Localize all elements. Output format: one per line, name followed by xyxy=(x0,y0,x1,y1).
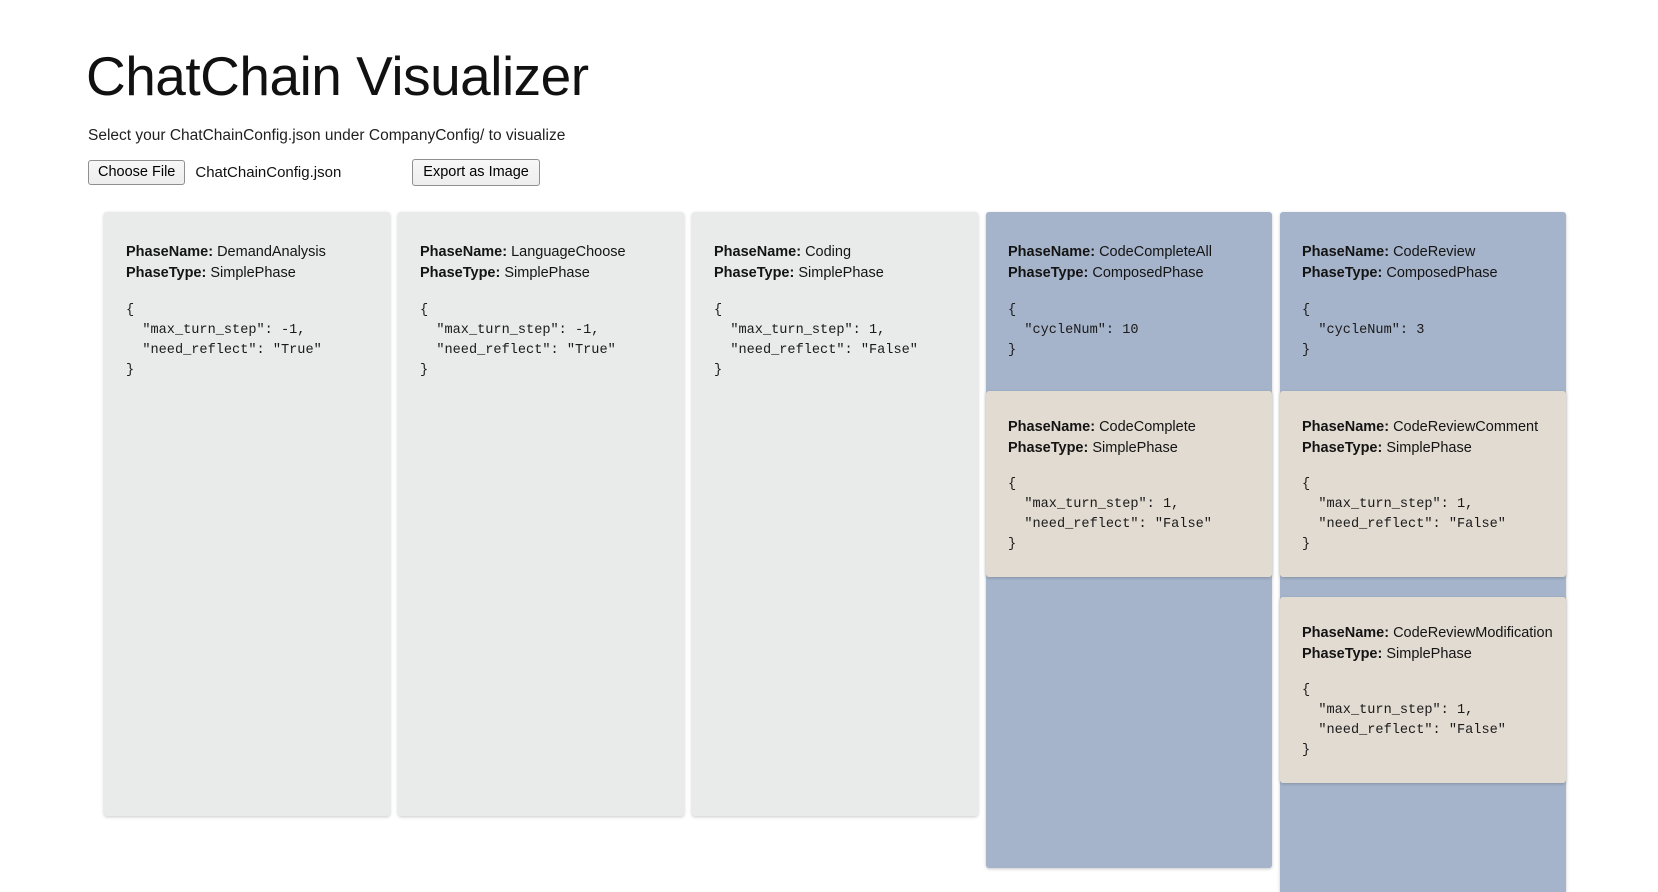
export-as-image-button[interactable]: Export as Image xyxy=(412,159,540,186)
controls-row: Choose File ChatChainConfig.json Export … xyxy=(88,159,1658,186)
phase-card-simple[interactable]: PhaseName: DemandAnalysis PhaseType: Sim… xyxy=(104,212,390,816)
phase-name-key: PhaseName: xyxy=(1302,625,1389,641)
page-subtitle: Select your ChatChainConfig.json under C… xyxy=(88,126,1658,146)
phase-meta: PhaseName: CodeReview PhaseType: Compose… xyxy=(1302,242,1544,283)
phase-name-key: PhaseName: xyxy=(1008,419,1095,435)
phase-name-row: PhaseName: CodeReviewModification xyxy=(1302,623,1544,644)
phase-meta: PhaseName: CodeCompleteAll PhaseType: Co… xyxy=(1008,242,1250,283)
phase-config-json: { "max_turn_step": -1, "need_reflect": "… xyxy=(420,301,662,381)
page-header: ChatChain Visualizer Select your ChatCha… xyxy=(0,0,1658,186)
phase-type-value: SimplePhase xyxy=(1386,646,1471,662)
nested-phase-card[interactable]: PhaseName: CodeReviewComment PhaseType: … xyxy=(1280,391,1566,577)
phase-card-simple[interactable]: PhaseName: LanguageChoose PhaseType: Sim… xyxy=(398,212,684,816)
phase-type-key: PhaseType: xyxy=(714,265,794,281)
choose-file-button[interactable]: Choose File xyxy=(88,160,185,185)
phase-config-json: { "max_turn_step": 1, "need_reflect": "F… xyxy=(1008,475,1250,555)
nested-phase-card[interactable]: PhaseName: CodeComplete PhaseType: Simpl… xyxy=(986,391,1272,577)
phase-type-row: PhaseType: SimplePhase xyxy=(1302,644,1544,665)
phase-type-row: PhaseType: ComposedPhase xyxy=(1008,263,1250,284)
phase-name-key: PhaseName: xyxy=(1008,244,1095,260)
chatchain-visualizer-page: ChatChain Visualizer Select your ChatCha… xyxy=(0,0,1658,892)
phase-name-key: PhaseName: xyxy=(1302,419,1389,435)
phase-type-row: PhaseType: SimplePhase xyxy=(1302,438,1544,459)
phase-type-value: ComposedPhase xyxy=(1386,265,1497,281)
selected-file-name: ChatChainConfig.json xyxy=(195,164,341,181)
phase-name-row: PhaseName: CodeReviewComment xyxy=(1302,417,1544,438)
phase-name-value: DemandAnalysis xyxy=(217,244,326,260)
phase-name-value: CodeCompleteAll xyxy=(1099,244,1212,260)
phase-type-key: PhaseType: xyxy=(1302,646,1382,662)
file-input[interactable]: Choose File ChatChainConfig.json xyxy=(88,160,341,185)
phase-name-row: PhaseName: Coding xyxy=(714,242,956,263)
phase-name-row: PhaseName: LanguageChoose xyxy=(420,242,662,263)
phase-type-row: PhaseType: SimplePhase xyxy=(420,263,662,284)
phase-config-json: { "cycleNum": 3 } xyxy=(1302,301,1544,361)
phase-type-key: PhaseType: xyxy=(420,265,500,281)
phase-meta: PhaseName: LanguageChoose PhaseType: Sim… xyxy=(420,242,662,283)
phase-type-row: PhaseType: SimplePhase xyxy=(126,263,368,284)
phase-card-composed[interactable]: PhaseName: CodeReview PhaseType: Compose… xyxy=(1280,212,1566,892)
phase-type-value: SimplePhase xyxy=(1386,440,1471,456)
phase-name-key: PhaseName: xyxy=(714,244,801,260)
phase-type-value: SimplePhase xyxy=(798,265,883,281)
phase-meta: PhaseName: CodeReviewModification PhaseT… xyxy=(1302,623,1544,664)
phase-meta: PhaseName: DemandAnalysis PhaseType: Sim… xyxy=(126,242,368,283)
phase-name-row: PhaseName: CodeComplete xyxy=(1008,417,1250,438)
phase-type-value: SimplePhase xyxy=(504,265,589,281)
phase-type-row: PhaseType: ComposedPhase xyxy=(1302,263,1544,284)
phase-card-composed[interactable]: PhaseName: CodeCompleteAll PhaseType: Co… xyxy=(986,212,1272,868)
phase-name-value: CodeComplete xyxy=(1099,419,1196,435)
phase-name-key: PhaseName: xyxy=(1302,244,1389,260)
phase-name-key: PhaseName: xyxy=(126,244,213,260)
phase-name-row: PhaseName: DemandAnalysis xyxy=(126,242,368,263)
phase-type-key: PhaseType: xyxy=(1302,440,1382,456)
phase-type-row: PhaseType: SimplePhase xyxy=(714,263,956,284)
phase-type-value: SimplePhase xyxy=(1092,440,1177,456)
phase-type-key: PhaseType: xyxy=(126,265,206,281)
phase-type-value: SimplePhase xyxy=(210,265,295,281)
phase-type-key: PhaseType: xyxy=(1008,265,1088,281)
phase-config-json: { "max_turn_step": -1, "need_reflect": "… xyxy=(126,301,368,381)
phase-card-simple[interactable]: PhaseName: Coding PhaseType: SimplePhase… xyxy=(692,212,978,816)
phase-type-key: PhaseType: xyxy=(1302,265,1382,281)
nested-phase-card[interactable]: PhaseName: CodeReviewModification PhaseT… xyxy=(1280,597,1566,783)
chat-chain-container: PhaseName: DemandAnalysis PhaseType: Sim… xyxy=(104,212,1566,892)
phase-name-row: PhaseName: CodeCompleteAll xyxy=(1008,242,1250,263)
phase-name-value: Coding xyxy=(805,244,851,260)
nested-phase-list: PhaseName: CodeComplete PhaseType: Simpl… xyxy=(1008,391,1250,577)
phase-meta: PhaseName: CodeReviewComment PhaseType: … xyxy=(1302,417,1544,458)
phase-config-json: { "cycleNum": 10 } xyxy=(1008,301,1250,361)
phase-name-value: CodeReview xyxy=(1393,244,1475,260)
phase-config-json: { "max_turn_step": 1, "need_reflect": "F… xyxy=(1302,681,1544,761)
phase-name-value: LanguageChoose xyxy=(511,244,626,260)
phase-meta: PhaseName: Coding PhaseType: SimplePhase xyxy=(714,242,956,283)
phase-config-json: { "max_turn_step": 1, "need_reflect": "F… xyxy=(1302,475,1544,555)
phase-name-key: PhaseName: xyxy=(420,244,507,260)
phase-name-value: CodeReviewModification xyxy=(1393,625,1553,641)
nested-phase-list: PhaseName: CodeReviewComment PhaseType: … xyxy=(1302,391,1544,783)
phase-name-value: CodeReviewComment xyxy=(1393,419,1538,435)
page-title: ChatChain Visualizer xyxy=(86,0,1658,108)
phase-meta: PhaseName: CodeComplete PhaseType: Simpl… xyxy=(1008,417,1250,458)
phase-type-value: ComposedPhase xyxy=(1092,265,1203,281)
phase-type-row: PhaseType: SimplePhase xyxy=(1008,438,1250,459)
phase-config-json: { "max_turn_step": 1, "need_reflect": "F… xyxy=(714,301,956,381)
phase-type-key: PhaseType: xyxy=(1008,440,1088,456)
phase-name-row: PhaseName: CodeReview xyxy=(1302,242,1544,263)
